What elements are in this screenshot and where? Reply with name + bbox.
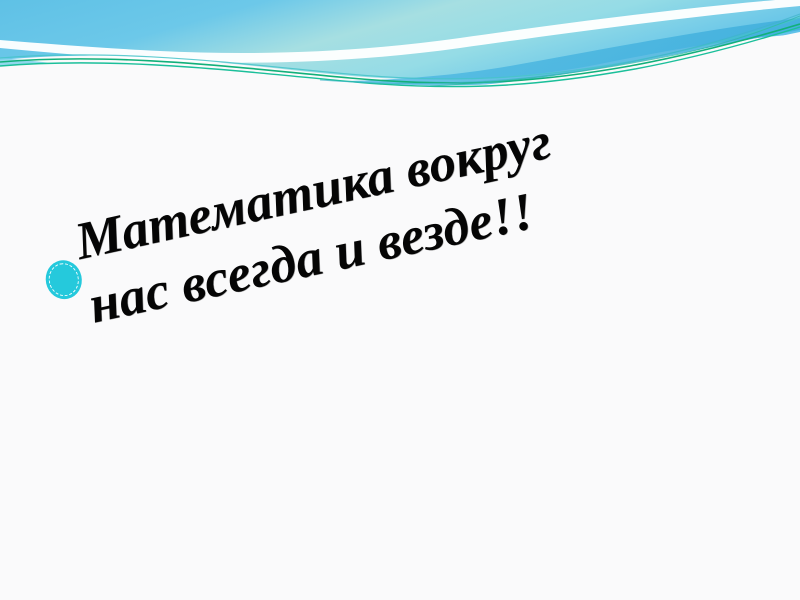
title-text-block: Математика вокруг нас всегда и везде!!	[32, 72, 744, 346]
wave-accent-line-4	[320, 14, 800, 84]
wave-white-swoosh	[0, 0, 800, 63]
circle-bullet-icon	[42, 257, 85, 303]
wave-base-shape	[0, 0, 800, 79]
slide-content-area: Математика вокруг нас всегда и везде!!	[0, 110, 800, 600]
page-title: Математика вокруг нас всегда и везде!!	[69, 72, 743, 338]
wave-accent-line-1	[0, 24, 800, 83]
presentation-slide: Математика вокруг нас всегда и везде!!	[0, 0, 800, 600]
wave-accent-line-5	[430, 16, 800, 86]
wave-accent-line-3	[0, 18, 800, 79]
wave-accent-line-2	[0, 27, 800, 87]
